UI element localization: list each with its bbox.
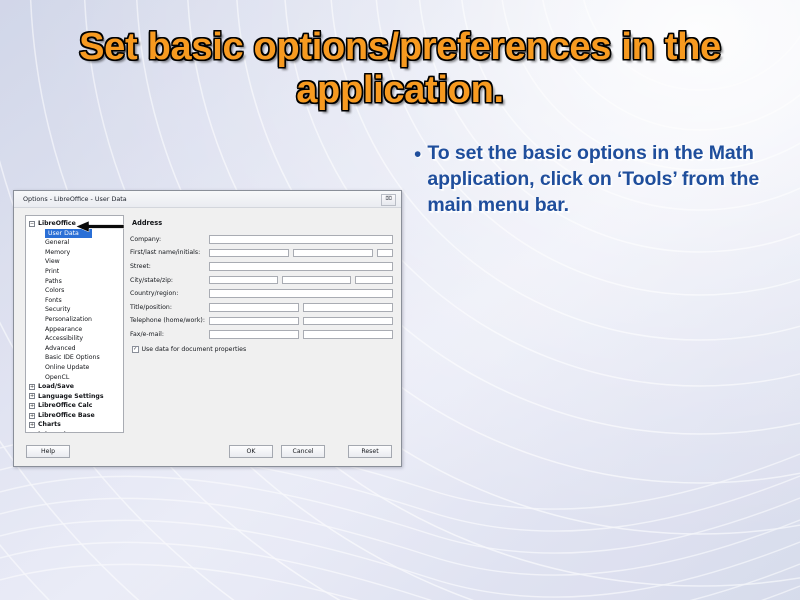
options-category-tree[interactable]: −LibreOfficeUser DataGeneralMemoryViewPr…	[25, 215, 124, 433]
field-label: Company:	[130, 236, 209, 243]
bullet-marker-icon: •	[412, 141, 421, 169]
text-input[interactable]	[209, 249, 289, 258]
tree-node-load-save[interactable]: +Load/Save	[26, 382, 123, 392]
field-label: Fax/e-mail:	[130, 331, 209, 338]
field-group	[209, 249, 393, 258]
expand-expander-icon[interactable]: +	[29, 432, 35, 433]
tree-item-label: Appearance	[45, 325, 82, 335]
tree-item-label: User Data	[48, 229, 79, 239]
tree-item-label: Paths	[45, 277, 62, 287]
text-input[interactable]	[209, 289, 393, 298]
tree-item-label: Fonts	[45, 296, 62, 306]
tree-item-colors[interactable]: Colors	[26, 286, 123, 296]
field-label: Street:	[130, 263, 209, 270]
tree-item-label: Online Update	[45, 363, 89, 373]
tree-node-libreoffice-calc[interactable]: +LibreOffice Calc	[26, 401, 123, 411]
form-row: First/last name/initials:	[130, 247, 393, 260]
collapse-expander-icon[interactable]: −	[29, 221, 35, 227]
tree-item-appearance[interactable]: Appearance	[26, 325, 123, 335]
field-label: Title/position:	[130, 304, 209, 311]
dialog-title: Options - LibreOffice - User Data	[14, 195, 127, 203]
tree-item-general[interactable]: General	[26, 238, 123, 248]
text-input[interactable]	[377, 249, 393, 258]
tree-item-label: View	[45, 257, 60, 267]
expand-expander-icon[interactable]: +	[29, 393, 35, 399]
text-input[interactable]	[355, 276, 393, 285]
tree-item-online-update[interactable]: Online Update	[26, 363, 123, 373]
tree-item-label: Colors	[45, 286, 64, 296]
dialog-body: −LibreOfficeUser DataGeneralMemoryViewPr…	[14, 208, 401, 467]
text-input[interactable]	[209, 330, 299, 339]
field-label: First/last name/initials:	[130, 249, 209, 256]
page-title: Set basic options/preferences in the app…	[30, 26, 770, 112]
tree-item-security[interactable]: Security	[26, 305, 123, 315]
tree-item-label: Security	[45, 305, 70, 315]
text-input[interactable]	[209, 317, 299, 326]
tree-item-paths[interactable]: Paths	[26, 277, 123, 287]
text-input[interactable]	[209, 303, 299, 312]
use-data-checkbox-row[interactable]: ✓ Use data for document properties	[132, 346, 393, 353]
form-row: Street:	[130, 260, 393, 273]
checkbox-icon[interactable]: ✓	[132, 346, 139, 353]
expand-expander-icon[interactable]: +	[29, 384, 35, 390]
field-label: City/state/zip:	[130, 277, 209, 284]
text-input[interactable]	[209, 276, 278, 285]
options-dialog-screenshot: Options - LibreOffice - User Data ⌧ −Lib…	[13, 190, 402, 467]
tree-node-label: LibreOffice Base	[38, 411, 95, 421]
field-group	[209, 276, 393, 285]
tree-node-libreoffice-base[interactable]: +LibreOffice Base	[26, 411, 123, 421]
bullet-text: To set the basic options in the Math app…	[427, 141, 784, 219]
tree-item-basic-ide-options[interactable]: Basic IDE Options	[26, 353, 123, 363]
tree-item-accessibility[interactable]: Accessibility	[26, 334, 123, 344]
tree-item-label: Personalization	[45, 315, 92, 325]
tree-item-label: Advanced	[45, 344, 76, 354]
tree-item-memory[interactable]: Memory	[26, 248, 123, 258]
form-row: Fax/e-mail:	[130, 328, 393, 341]
address-form: Company:First/last name/initials:Street:…	[130, 233, 393, 341]
tree-item-label: Accessibility	[45, 334, 83, 344]
form-row: Company:	[130, 233, 393, 246]
expand-expander-icon[interactable]: +	[29, 413, 35, 419]
tree-item-personalization[interactable]: Personalization	[26, 315, 123, 325]
field-label: Country/region:	[130, 290, 209, 297]
field-group	[209, 262, 393, 271]
tree-node-label: LibreOffice Calc	[38, 401, 92, 411]
close-icon[interactable]: ⌧	[381, 194, 396, 206]
field-label: Telephone (home/work):	[130, 317, 209, 324]
ok-button[interactable]: OK	[229, 445, 273, 458]
tree-item-fonts[interactable]: Fonts	[26, 296, 123, 306]
annotation-arrow-icon	[76, 221, 124, 232]
tree-node-label: Charts	[38, 420, 61, 430]
form-row: City/state/zip:	[130, 274, 393, 287]
expand-expander-icon[interactable]: +	[29, 403, 35, 409]
bullet-list-item: • To set the basic options in the Math a…	[412, 141, 784, 219]
help-button[interactable]: Help	[26, 445, 70, 458]
field-group	[209, 303, 393, 312]
field-group	[209, 330, 393, 339]
tree-node-label: LibreOffice	[38, 219, 76, 229]
tree-node-charts[interactable]: +Charts	[26, 420, 123, 430]
tree-item-label: Memory	[45, 248, 70, 258]
pane-heading: Address	[132, 219, 393, 227]
checkbox-label: Use data for document properties	[142, 346, 247, 353]
text-input[interactable]	[209, 235, 393, 244]
text-input[interactable]	[282, 276, 351, 285]
tree-item-label: General	[45, 238, 69, 248]
text-input[interactable]	[303, 317, 393, 326]
tree-item-label: Print	[45, 267, 59, 277]
form-row: Title/position:	[130, 301, 393, 314]
text-input[interactable]	[293, 249, 373, 258]
tree-node-label: Language Settings	[38, 392, 104, 402]
tree-item-advanced[interactable]: Advanced	[26, 344, 123, 354]
tree-node-label: Load/Save	[38, 382, 74, 392]
dialog-titlebar: Options - LibreOffice - User Data ⌧	[14, 191, 401, 208]
tree-item-label: Basic IDE Options	[45, 353, 100, 363]
form-row: Country/region:	[130, 287, 393, 300]
slide-canvas: Set basic options/preferences in the app…	[0, 0, 800, 600]
reset-button[interactable]: Reset	[348, 445, 392, 458]
text-input[interactable]	[303, 330, 393, 339]
text-input[interactable]	[303, 303, 393, 312]
tree-node-internet[interactable]: +Internet	[26, 430, 123, 433]
cancel-button[interactable]: Cancel	[281, 445, 325, 458]
tree-node-label: Internet	[38, 430, 66, 433]
field-group	[209, 317, 393, 326]
text-input[interactable]	[209, 262, 393, 271]
tree-item-view[interactable]: View	[26, 257, 123, 267]
tree-item-print[interactable]: Print	[26, 267, 123, 277]
field-group	[209, 289, 393, 298]
expand-expander-icon[interactable]: +	[29, 422, 35, 428]
field-group	[209, 235, 393, 244]
tree-item-opencl[interactable]: OpenCL	[26, 373, 123, 383]
tree-item-label: OpenCL	[45, 373, 69, 383]
form-row: Telephone (home/work):	[130, 315, 393, 328]
user-data-pane: Address Company:First/last name/initials…	[130, 215, 393, 427]
dialog-button-bar: Help OK Cancel Reset	[14, 445, 401, 461]
tree-node-language-settings[interactable]: +Language Settings	[26, 392, 123, 402]
